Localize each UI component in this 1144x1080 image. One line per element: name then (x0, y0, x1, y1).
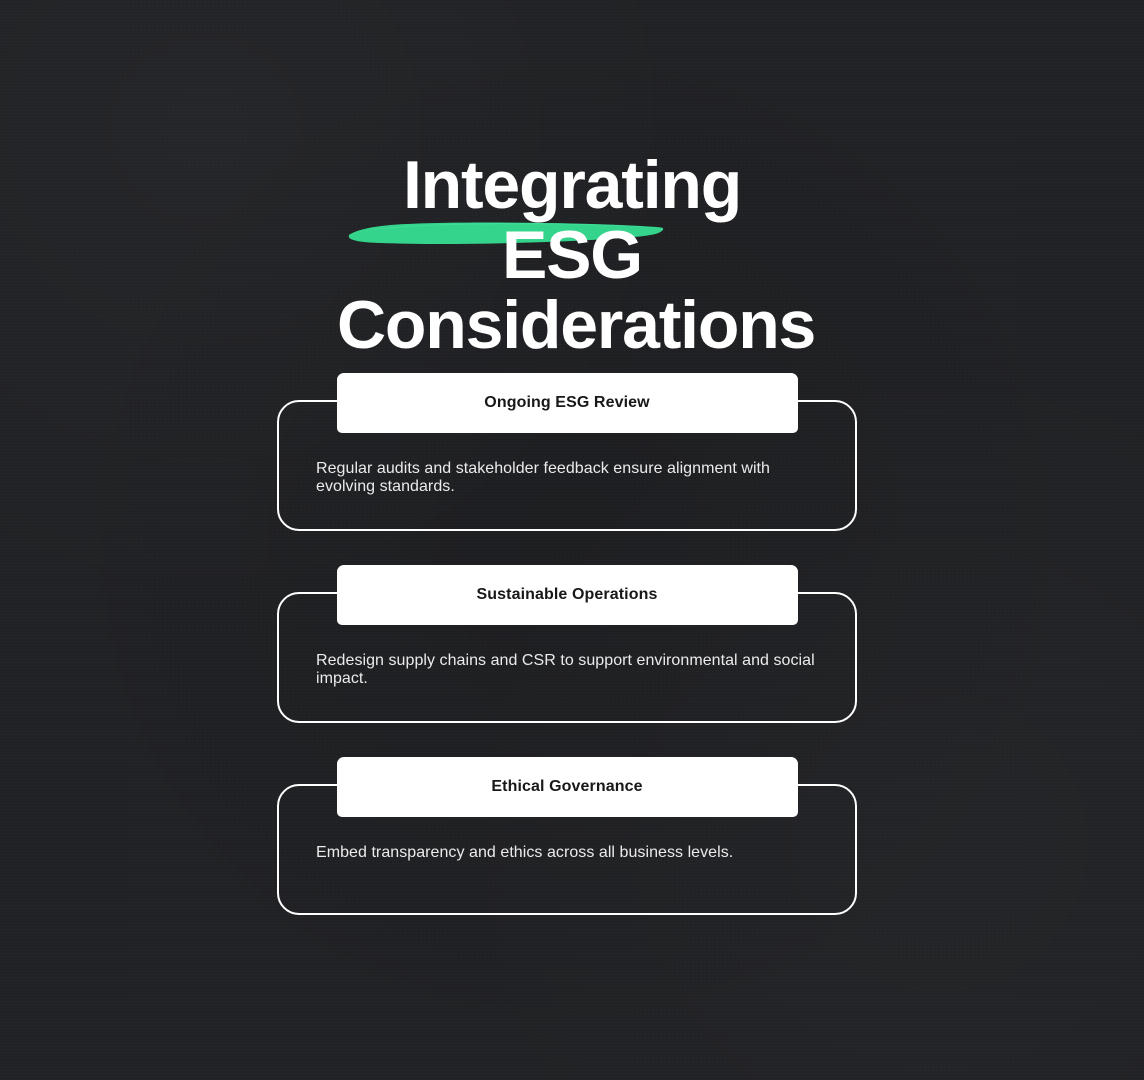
title-inner: Integrating ESG Considerations (337, 150, 807, 360)
card-tab[interactable]: Ethical Governance (337, 757, 798, 817)
card-description: Regular audits and stakeholder feedback … (316, 460, 821, 496)
card-title: Ethical Governance (475, 778, 658, 796)
card-description: Embed transparency and ethics across all… (316, 844, 821, 862)
slide-root: Integrating ESG Considerations Ongoing E… (0, 0, 1144, 1080)
card-ethical-governance[interactable]: Ethical Governance Embed transparency an… (277, 757, 857, 915)
card-sustainable-operations[interactable]: Sustainable Operations Redesign supply c… (277, 565, 857, 723)
page-title: Integrating ESG Considerations (337, 150, 807, 360)
card-title: Sustainable Operations (461, 586, 674, 604)
title-block: Integrating ESG Considerations (0, 150, 1144, 360)
card-title: Ongoing ESG Review (468, 394, 665, 412)
card-list: Ongoing ESG Review Regular audits and st… (277, 373, 857, 949)
card-description: Redesign supply chains and CSR to suppor… (316, 652, 821, 688)
card-tab[interactable]: Ongoing ESG Review (337, 373, 798, 433)
card-tab[interactable]: Sustainable Operations (337, 565, 798, 625)
card-ongoing-esg-review[interactable]: Ongoing ESG Review Regular audits and st… (277, 373, 857, 531)
